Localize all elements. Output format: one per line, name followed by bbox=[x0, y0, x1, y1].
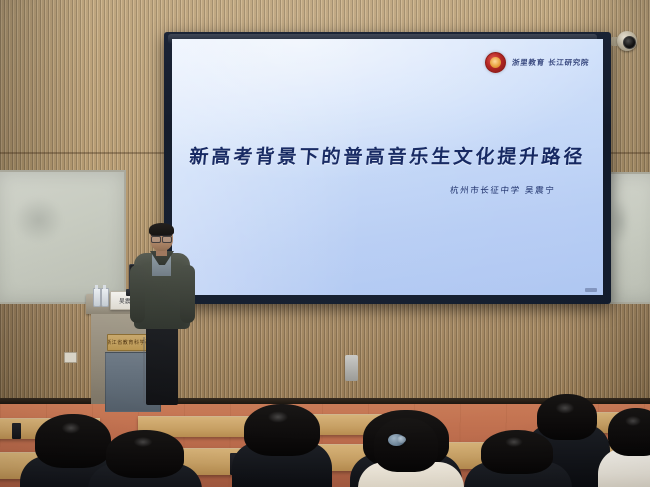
presenter-glasses-icon bbox=[151, 235, 172, 241]
screen-panel-badge bbox=[585, 288, 597, 292]
slide-logo: 浙里教育 长江研究院 bbox=[485, 52, 589, 73]
presenter-legs bbox=[146, 325, 178, 405]
person-hair bbox=[374, 418, 438, 472]
camera-lens bbox=[623, 36, 636, 49]
hair-highlight bbox=[264, 409, 292, 425]
school-emblem-icon bbox=[485, 52, 506, 73]
audience-person bbox=[606, 408, 650, 487]
slide-title: 新高考背景下的普高音乐生文化提升路径 bbox=[172, 142, 603, 169]
presenter-left-arm bbox=[130, 265, 145, 323]
presenter-right-arm bbox=[180, 265, 195, 323]
presentation-screen[interactable]: 浙里教育 长江研究院 新高考背景下的普高音乐生文化提升路径 杭州市长征中学 吴震… bbox=[164, 32, 611, 304]
ceiling-camera-icon bbox=[611, 31, 637, 55]
board-smudge bbox=[6, 190, 72, 250]
audience-person bbox=[474, 430, 560, 487]
slide-logo-label: 浙里教育 长江研究院 bbox=[511, 57, 589, 68]
wall-switch-plate[interactable] bbox=[64, 352, 77, 363]
presenter bbox=[128, 225, 196, 405]
hair-highlight bbox=[622, 414, 644, 428]
audience-person bbox=[238, 404, 326, 487]
hair-highlight bbox=[130, 435, 156, 449]
audience-person bbox=[100, 430, 190, 487]
desk-end-panel bbox=[12, 423, 21, 439]
hair-highlight bbox=[502, 435, 526, 449]
water-bottle bbox=[101, 288, 109, 307]
audience-person bbox=[368, 418, 448, 487]
slide-subtitle: 杭州市长征中学 吴震宁 bbox=[449, 184, 555, 196]
water-bottle bbox=[93, 288, 101, 307]
hair-scrunchie bbox=[388, 434, 405, 446]
floor-bin bbox=[345, 355, 358, 381]
hair-highlight bbox=[552, 400, 578, 416]
hair-highlight bbox=[58, 420, 84, 436]
presenter-leg-split bbox=[143, 337, 145, 403]
lecture-hall-scene: 浙里教育 长江研究院 新高考背景下的普高音乐生文化提升路径 杭州市长征中学 吴震… bbox=[0, 0, 650, 487]
whiteboard-left bbox=[0, 170, 126, 304]
slide-surface: 浙里教育 长江研究院 新高考背景下的普高音乐生文化提升路径 杭州市长征中学 吴震… bbox=[172, 39, 603, 295]
